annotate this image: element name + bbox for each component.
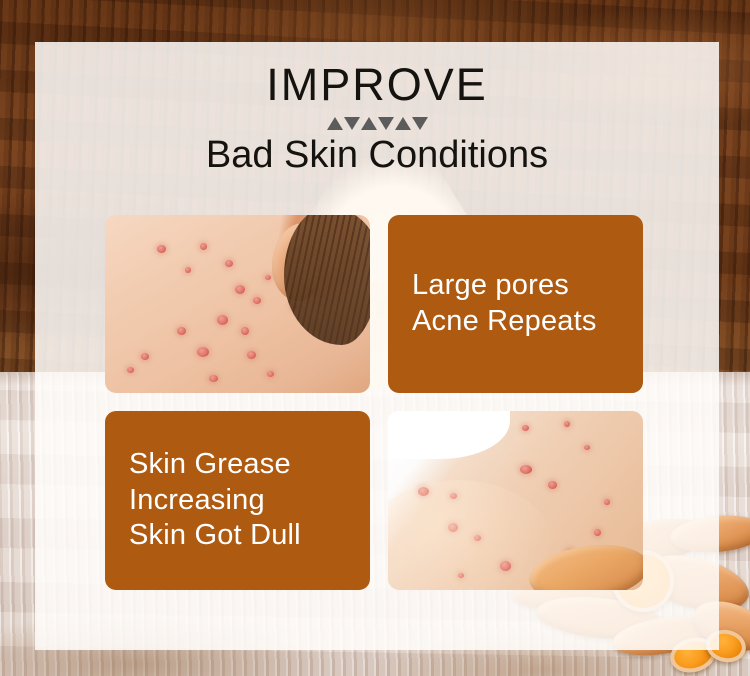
acne-spot (225, 260, 233, 267)
acne-spot (291, 303, 297, 309)
card-line: Acne Repeats (412, 304, 597, 340)
acne-spot (474, 535, 481, 541)
acne-spot (267, 371, 274, 377)
triangle-up-icon (361, 117, 377, 130)
acne-spot (604, 499, 610, 505)
card-line: Increasing (129, 483, 301, 519)
acne-spot (458, 573, 464, 578)
acne-spot (520, 465, 532, 474)
acne-spot (500, 561, 511, 571)
triangle-row-divider-icon (35, 116, 719, 130)
acne-spot (127, 367, 134, 373)
feature-card-grid: Large pores Acne Repeats Skin Grease Inc… (105, 215, 643, 590)
acne-spot (141, 353, 149, 360)
acne-spot (200, 243, 207, 250)
skin-grease-card-text: Skin Grease Increasing Skin Got Dull (129, 447, 301, 554)
acne-spots-overlay (105, 215, 370, 393)
acne-spot (265, 275, 271, 280)
triangle-down-icon (378, 117, 394, 130)
acne-spot (235, 285, 245, 294)
acne-spot (418, 487, 429, 496)
acne-back-photo (388, 411, 643, 590)
acne-spot (253, 297, 261, 304)
card-line: Skin Grease (129, 447, 301, 483)
triangle-down-icon (344, 117, 360, 130)
acne-face-photo (105, 215, 370, 393)
acne-spot (564, 421, 570, 427)
page-title: IMPROVE (35, 60, 719, 110)
acne-spot (177, 327, 186, 335)
triangle-down-icon (412, 117, 428, 130)
acne-spot (197, 347, 209, 357)
page-subtitle: Bad Skin Conditions (35, 133, 719, 178)
large-pores-card-text: Large pores Acne Repeats (412, 268, 597, 339)
acne-spot (594, 529, 601, 536)
acne-spot (157, 245, 166, 253)
card-line: Skin Got Dull (129, 518, 301, 554)
acne-spot (217, 315, 228, 325)
acne-spot (584, 445, 590, 450)
acne-spot (241, 327, 249, 335)
acne-spot (548, 481, 557, 489)
acne-spot (448, 523, 458, 532)
large-pores-card: Large pores Acne Repeats (388, 215, 643, 393)
acne-spot (522, 425, 529, 431)
poster-canvas: IMPROVE Bad Skin Conditions (0, 0, 750, 676)
triangle-up-icon (395, 117, 411, 130)
acne-spot (185, 267, 191, 273)
skin-grease-card: Skin Grease Increasing Skin Got Dull (105, 411, 370, 590)
triangle-up-icon (327, 117, 343, 130)
acne-spot (247, 351, 256, 359)
heading-block: IMPROVE Bad Skin Conditions (35, 42, 719, 178)
acne-spot (450, 493, 457, 499)
acne-spot (209, 375, 218, 382)
card-line: Large pores (412, 268, 597, 304)
